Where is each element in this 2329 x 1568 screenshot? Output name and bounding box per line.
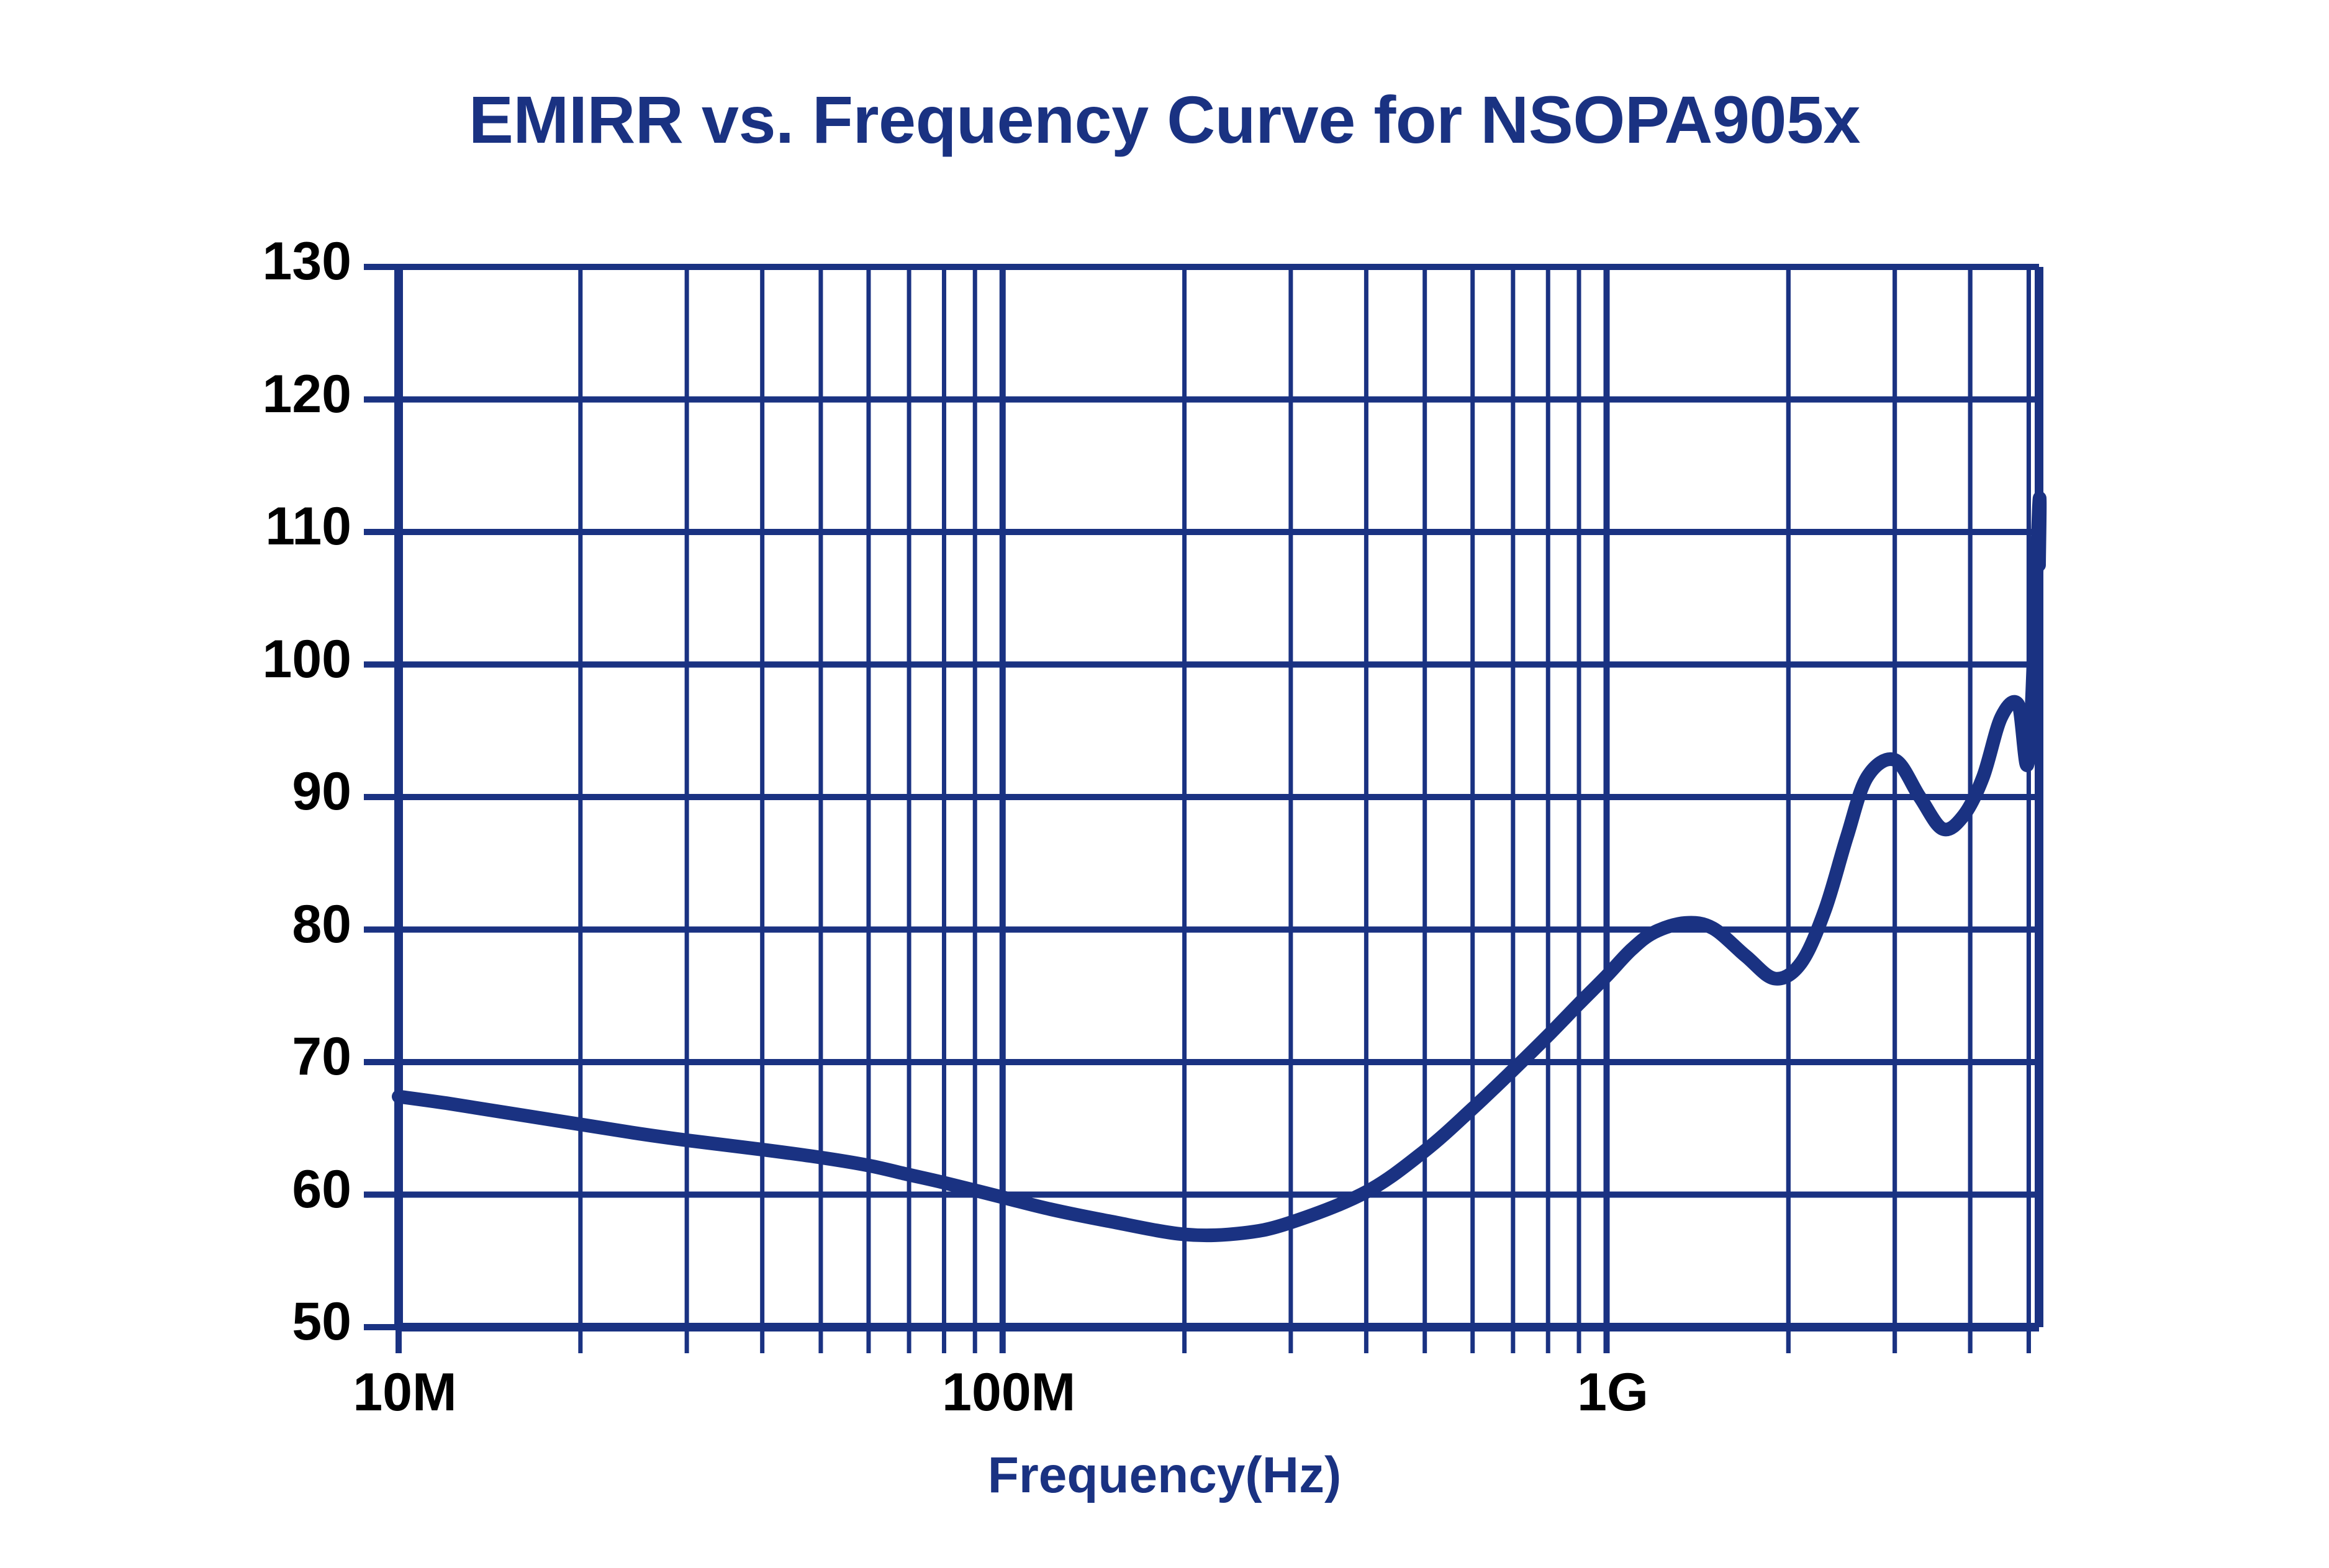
chart-figure: EMIRR vs. Frequency Curve for NSOPA905x …	[0, 0, 2329, 1568]
y-tick-label: 80	[165, 894, 351, 955]
y-tick-label: 110	[165, 496, 351, 557]
emirr-curve	[399, 498, 2040, 1235]
y-tick-label: 90	[165, 761, 351, 822]
y-tick-label: 50	[165, 1291, 351, 1353]
y-tick-label: 130	[165, 231, 351, 292]
y-tick-label: 70	[165, 1026, 351, 1088]
x-tick-label: 1G	[1489, 1362, 1737, 1423]
y-tick-label: 120	[165, 364, 351, 425]
x-axis-label: Frequency(Hz)	[0, 1446, 2329, 1505]
data-curve	[399, 498, 2040, 1235]
x-tick-label: 10M	[281, 1362, 529, 1423]
axis-ticks	[364, 267, 2028, 1353]
y-tick-label: 100	[165, 629, 351, 690]
y-tick-label: 60	[165, 1159, 351, 1220]
grid-lines	[399, 267, 2039, 1327]
x-tick-label: 100M	[885, 1362, 1133, 1423]
